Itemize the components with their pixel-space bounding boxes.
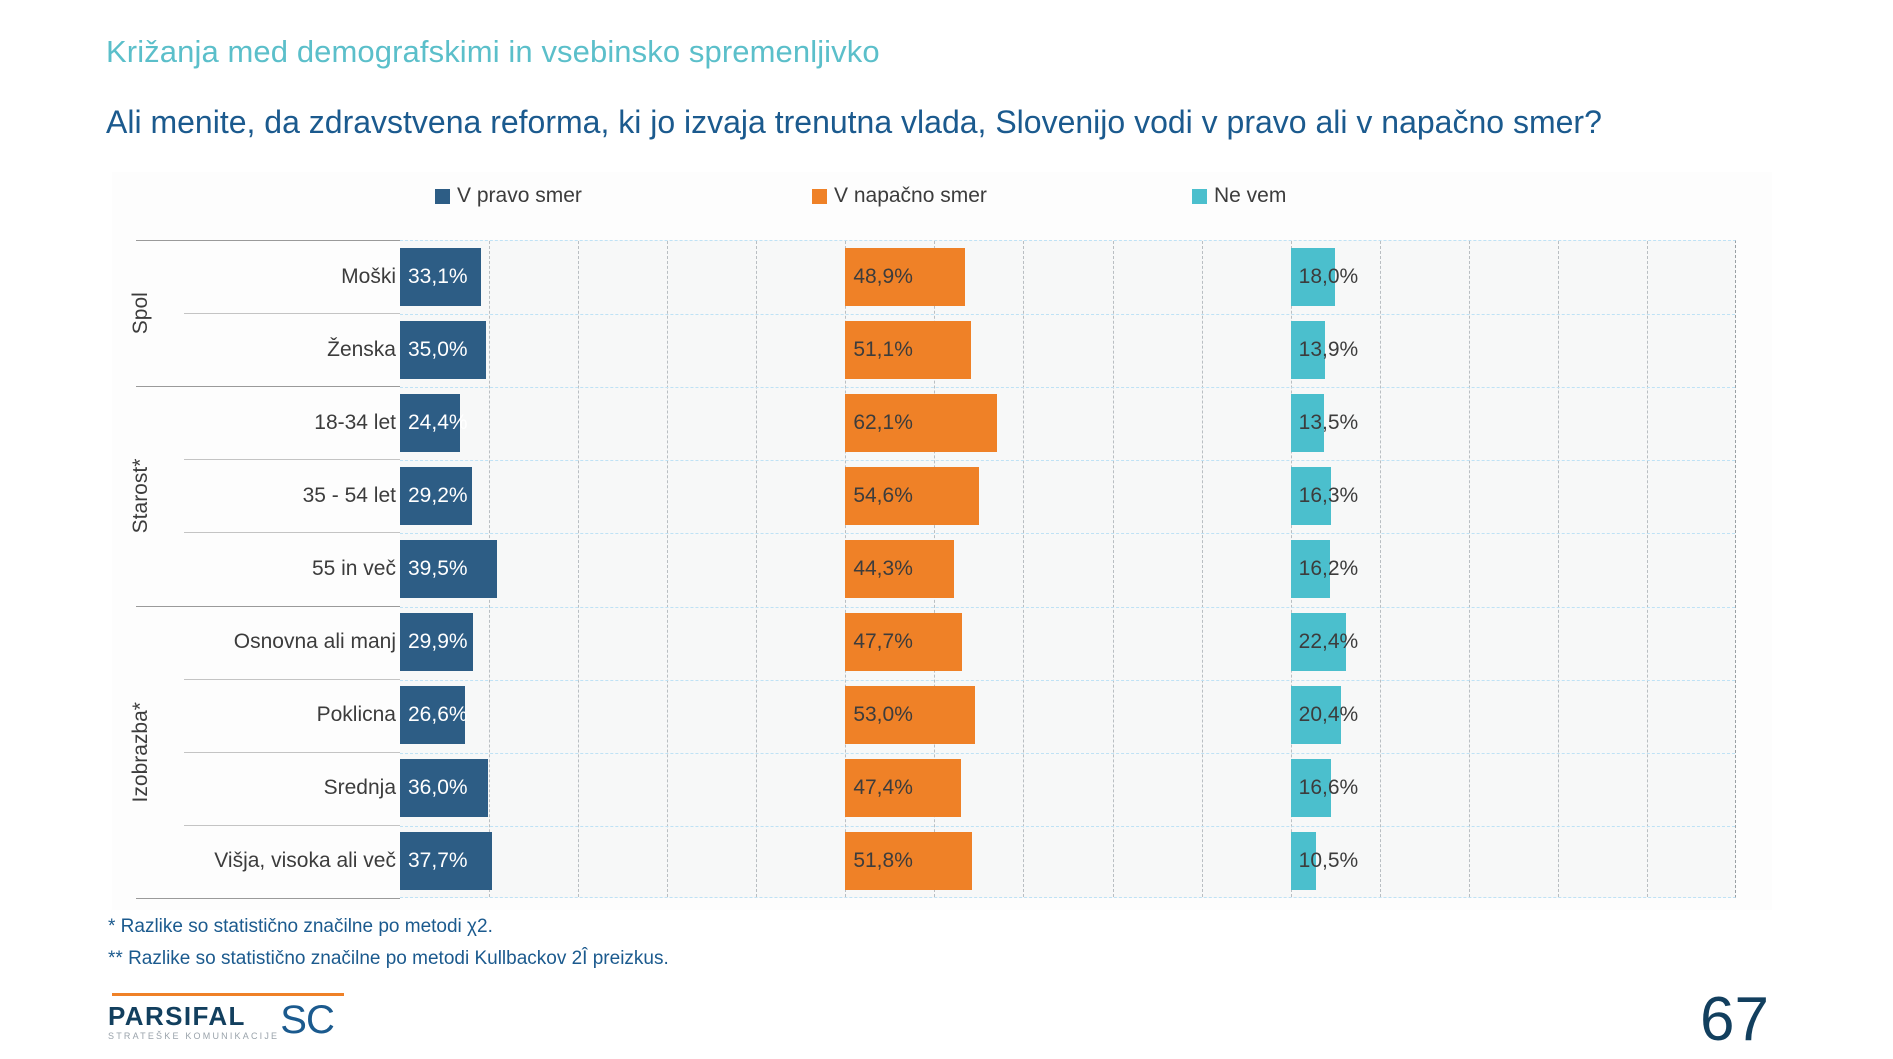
group-title: Spol: [126, 240, 156, 386]
bar-2[interactable]: 51,1%: [845, 321, 970, 379]
chart-row: Ženska35,0%51,1%13,9%: [112, 313, 1772, 386]
section-kicker: Križanja med demografskimi in vsebinsko …: [106, 34, 880, 70]
bar-value-label: 44,3%: [853, 557, 913, 581]
bar-3[interactable]: 18,0%: [1291, 248, 1335, 306]
category-separator: [184, 752, 400, 753]
bar-value-label: 20,4%: [1299, 703, 1359, 727]
bar-value-label: 22,4%: [1299, 630, 1359, 654]
bar-1[interactable]: 33,1%: [400, 248, 481, 306]
footnote-two: ** Razlike so statistično značilne po me…: [108, 948, 669, 970]
bar-rows: Moški33,1%48,9%18,0%Ženska35,0%51,1%13,9…: [112, 240, 1772, 898]
chart-row: Višja, visoka ali več37,7%51,8%10,5%: [112, 825, 1772, 898]
legend-label-series2: V napačno smer: [834, 184, 987, 208]
bar-3[interactable]: 13,5%: [1291, 394, 1324, 452]
group-title: Izobrazba*: [126, 606, 156, 898]
bar-3[interactable]: 16,6%: [1291, 759, 1332, 817]
category-separator: [184, 459, 400, 460]
bar-3[interactable]: 22,4%: [1291, 613, 1346, 671]
bar-2[interactable]: 48,9%: [845, 248, 965, 306]
bar-3[interactable]: 10,5%: [1291, 832, 1317, 890]
bar-value-label: 26,6%: [408, 703, 468, 727]
bar-value-label: 35,0%: [408, 338, 468, 362]
category-separator: [184, 313, 400, 314]
legend-label-series3: Ne vem: [1214, 184, 1286, 208]
category-separator: [184, 532, 400, 533]
chart-row: 35 - 54 let29,2%54,6%16,3%: [112, 459, 1772, 532]
legend-swatch-series3: [1192, 189, 1207, 204]
bar-3[interactable]: 20,4%: [1291, 686, 1341, 744]
chart-row: Srednja36,0%47,4%16,6%: [112, 752, 1772, 825]
chart-panel: V pravo smer V napačno smer Ne vem Moški…: [112, 172, 1772, 910]
bar-value-label: 47,7%: [853, 630, 913, 654]
group-separator: [136, 240, 400, 241]
row-category-label: Moški: [136, 265, 396, 289]
bar-value-label: 18,0%: [1299, 265, 1359, 289]
bar-1[interactable]: 36,0%: [400, 759, 488, 817]
footnote-one: * Razlike so statistično značilne po met…: [108, 916, 493, 938]
page-title: Ali menite, da zdravstvena reforma, ki j…: [106, 104, 1602, 141]
logo-wordmark: PARSIFAL: [108, 1003, 279, 1029]
bar-value-label: 39,5%: [408, 557, 468, 581]
bar-2[interactable]: 53,0%: [845, 686, 975, 744]
legend-swatch-series2: [812, 189, 827, 204]
bar-value-label: 13,9%: [1299, 338, 1359, 362]
bar-2[interactable]: 54,6%: [845, 467, 979, 525]
chart-row: 55 in več39,5%44,3%16,2%: [112, 532, 1772, 605]
bar-value-label: 24,4%: [408, 411, 468, 435]
bar-value-label: 29,2%: [408, 484, 468, 508]
legend-swatch-series1: [435, 189, 450, 204]
group-title: Starost*: [126, 386, 156, 605]
chart-legend: V pravo smer V napačno smer Ne vem: [112, 172, 1772, 216]
bar-2[interactable]: 47,7%: [845, 613, 962, 671]
group-separator: [136, 386, 400, 387]
logo-sc-mark: SC: [280, 1003, 334, 1037]
bar-2[interactable]: 44,3%: [845, 540, 954, 598]
bar-1[interactable]: 26,6%: [400, 686, 465, 744]
bar-value-label: 62,1%: [853, 411, 913, 435]
row-category-label: 35 - 54 let: [136, 484, 396, 508]
row-category-label: Ženska: [136, 338, 396, 362]
legend-item-v-napacno-smer[interactable]: V napačno smer: [812, 184, 987, 208]
bar-3[interactable]: 16,3%: [1291, 467, 1331, 525]
bar-value-label: 16,6%: [1299, 776, 1359, 800]
logo-tagline: STRATEŠKE KOMUNIKACIJE: [108, 1032, 279, 1041]
bar-2[interactable]: 62,1%: [845, 394, 997, 452]
chart-row: Osnovna ali manj29,9%47,7%22,4%: [112, 606, 1772, 679]
chart-row: Moški33,1%48,9%18,0%: [112, 240, 1772, 313]
bar-3[interactable]: 13,9%: [1291, 321, 1325, 379]
group-separator: [136, 898, 400, 899]
bar-1[interactable]: 37,7%: [400, 832, 492, 890]
bar-value-label: 53,0%: [853, 703, 913, 727]
group-separator: [136, 606, 400, 607]
bar-1[interactable]: 29,9%: [400, 613, 473, 671]
chart-row: 18-34 let24,4%62,1%13,5%: [112, 386, 1772, 459]
row-category-label: 18-34 let: [136, 411, 396, 435]
row-category-label: Osnovna ali manj: [136, 630, 396, 654]
bar-value-label: 13,5%: [1299, 411, 1359, 435]
bar-value-label: 51,8%: [853, 849, 913, 873]
bar-value-label: 36,0%: [408, 776, 468, 800]
category-separator: [184, 825, 400, 826]
legend-item-ne-vem[interactable]: Ne vem: [1192, 184, 1286, 208]
row-category-label: Višja, visoka ali več: [136, 849, 396, 873]
plot-area: Moški33,1%48,9%18,0%Ženska35,0%51,1%13,9…: [112, 240, 1772, 898]
bar-value-label: 47,4%: [853, 776, 913, 800]
legend-item-v-pravo-smer[interactable]: V pravo smer: [435, 184, 582, 208]
bar-2[interactable]: 51,8%: [845, 832, 972, 890]
page-number: 67: [1700, 984, 1769, 1055]
bar-1[interactable]: 39,5%: [400, 540, 497, 598]
row-category-label: 55 in več: [136, 557, 396, 581]
parsifal-logo: PARSIFAL STRATEŠKE KOMUNIKACIJE SC: [108, 1003, 338, 1045]
row-category-label: Srednja: [136, 776, 396, 800]
bar-3[interactable]: 16,2%: [1291, 540, 1331, 598]
bar-value-label: 16,2%: [1299, 557, 1359, 581]
bar-value-label: 16,3%: [1299, 484, 1359, 508]
bar-1[interactable]: 35,0%: [400, 321, 486, 379]
legend-label-series1: V pravo smer: [457, 184, 582, 208]
bar-1[interactable]: 24,4%: [400, 394, 460, 452]
bar-2[interactable]: 47,4%: [845, 759, 961, 817]
bar-value-label: 33,1%: [408, 265, 468, 289]
bar-value-label: 37,7%: [408, 849, 468, 873]
chart-row: Poklicna26,6%53,0%20,4%: [112, 679, 1772, 752]
bar-value-label: 29,9%: [408, 630, 468, 654]
accent-rule: [112, 993, 344, 996]
row-category-label: Poklicna: [136, 703, 396, 727]
bar-value-label: 10,5%: [1299, 849, 1359, 873]
bar-value-label: 54,6%: [853, 484, 913, 508]
category-separator: [184, 679, 400, 680]
bar-value-label: 48,9%: [853, 265, 913, 289]
bar-1[interactable]: 29,2%: [400, 467, 472, 525]
bar-value-label: 51,1%: [853, 338, 913, 362]
